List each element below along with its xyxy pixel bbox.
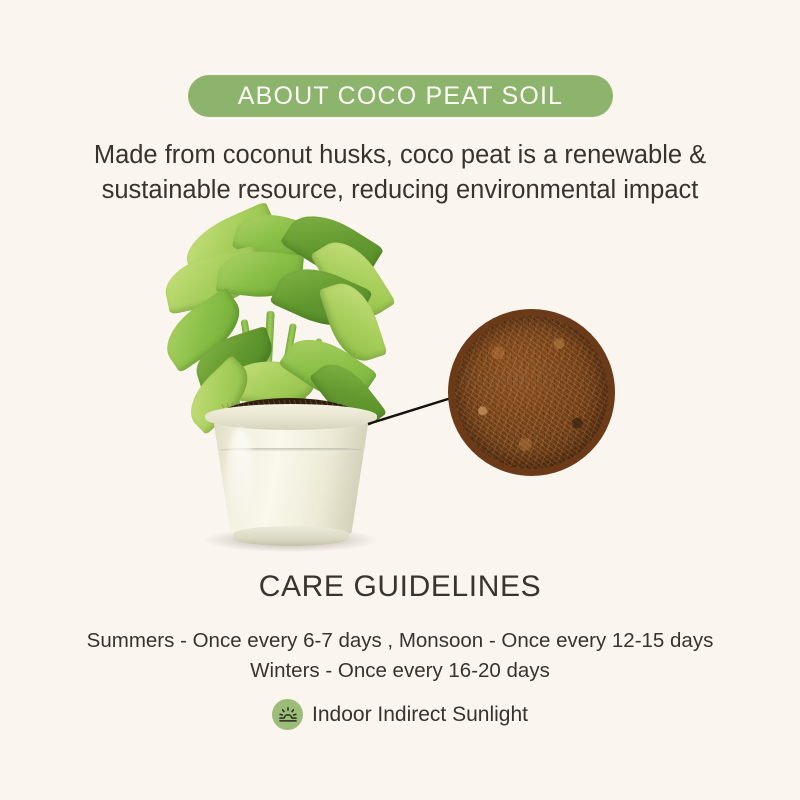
sunlight-requirement-row: Indoor Indirect Sunlight — [0, 699, 800, 730]
watering-line-2: Winters - Once every 16-20 days — [0, 656, 800, 686]
care-guidelines-heading: CARE GUIDELINES — [0, 570, 800, 604]
section-title-text: ABOUT COCO PEAT SOIL — [238, 82, 563, 111]
section-title-pill: ABOUT COCO PEAT SOIL — [188, 75, 613, 117]
intro-line-1: Made from coconut husks, coco peat is a … — [94, 141, 706, 169]
sun-horizon-icon — [272, 699, 303, 730]
plant-pot — [205, 404, 377, 548]
infographic-page: ABOUT COCO PEAT SOIL Made from coconut h… — [0, 0, 800, 800]
pot-base — [233, 526, 349, 546]
watering-line-1: Summers - Once every 6-7 days , Monsoon … — [0, 626, 800, 656]
coco-peat-soil-closeup — [448, 309, 615, 476]
pot-highlight — [227, 428, 253, 524]
intro-line-2: sustainable resource, reducing environme… — [50, 173, 750, 208]
intro-paragraph: Made from coconut husks, coco peat is a … — [50, 138, 750, 208]
pot-rim — [205, 404, 377, 430]
sunlight-label: Indoor Indirect Sunlight — [312, 703, 528, 727]
watering-schedule: Summers - Once every 6-7 days , Monsoon … — [0, 626, 800, 687]
